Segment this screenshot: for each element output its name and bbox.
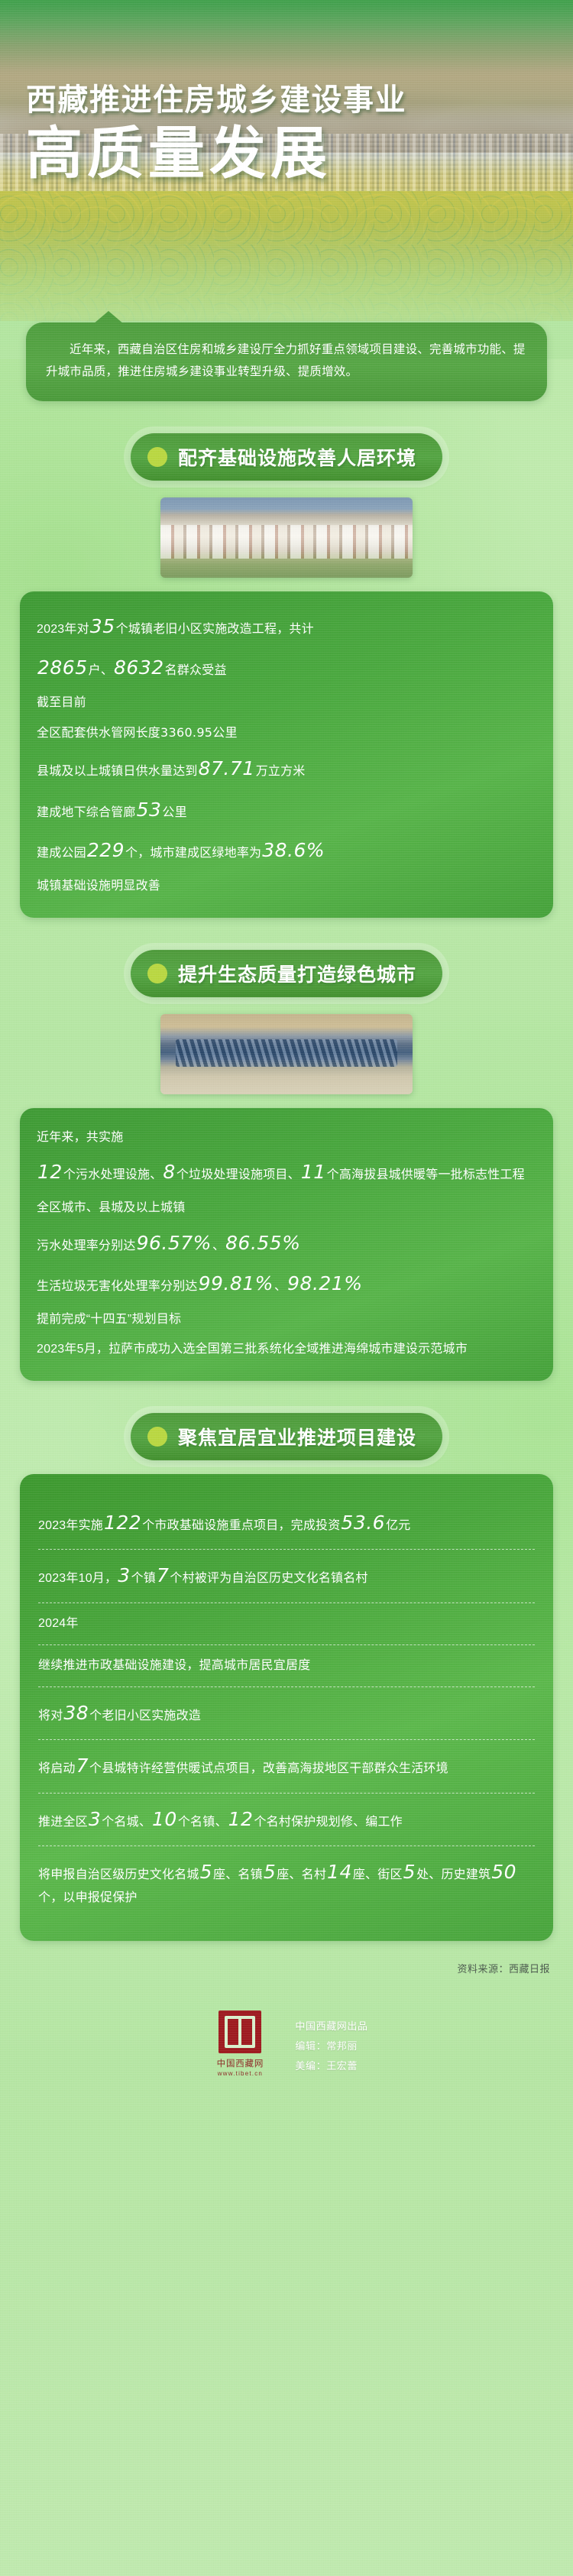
stat-number: 35 xyxy=(89,615,116,637)
stat-text: 个高海拔县城供暖等一批标志性工程 xyxy=(327,1168,525,1181)
section-1-body-card: 2023年对35个城镇老旧小区实施改造工程，共计2865户、8632名群众受益截… xyxy=(20,591,553,917)
stat-text: 2023年5月，拉萨市成功入选全国第三批系统化全域推进海绵城市建设示范城市 xyxy=(37,1343,468,1356)
stat-text: 公里 xyxy=(212,727,237,740)
intro-paragraph: 近年来，西藏自治区住房和城乡建设厅全力抓好重点领域项目建设、完善城市功能、提升城… xyxy=(46,339,527,383)
stat-number: 5 xyxy=(263,1861,277,1883)
section-2-photo-treatment-plant xyxy=(160,1014,413,1094)
stat-text: 2023年10月， xyxy=(38,1572,117,1585)
section-3-header-wrap: 聚焦宜居宜业推进项目建设 xyxy=(0,1413,573,1460)
stat-text: 个名城、 xyxy=(102,1816,151,1829)
stat-number: 86.55% xyxy=(225,1232,301,1254)
stat-text: 生活垃圾无害化处理率分别达 xyxy=(37,1280,198,1293)
stat-text: 座、街区 xyxy=(353,1868,403,1881)
stat-number: 87.71 xyxy=(198,757,256,779)
stat-number: 12 xyxy=(37,1161,63,1183)
stat-text: 个城镇老旧小区实施改造工程，共计 xyxy=(116,623,314,636)
stat-text: 个垃圾处理设施项目、 xyxy=(176,1168,300,1181)
brand-name-label: 中国西藏网 xyxy=(205,2059,275,2070)
stat-line: 建成地下综合管廊53公里 xyxy=(37,795,536,826)
bullet-dot-icon xyxy=(147,447,167,467)
tibet-seal-icon xyxy=(219,2011,261,2053)
list-item: 将申报自治区级历史文化名城5座、名镇5座、名村14座、街区5处、历史建筑50个，… xyxy=(38,1845,535,1918)
stat-text: 亿元 xyxy=(386,1519,410,1532)
section-infrastructure: 配齐基础设施改善人居环境 2023年对35个城镇老旧小区实施改造工程，共计286… xyxy=(0,433,573,917)
stat-text: 个市政基础设施重点项目，完成投资 xyxy=(142,1519,340,1532)
stat-number: 14 xyxy=(326,1861,353,1883)
stat-number: 8632 xyxy=(113,656,165,679)
section-2-header-pill[interactable]: 提升生态质量打造绿色城市 xyxy=(131,950,442,997)
brand-logo: 中国西藏网 www.tibet.cn xyxy=(205,2011,275,2077)
stat-text: 万立方米 xyxy=(256,765,306,778)
stat-text: 城镇基础设施明显改善 xyxy=(37,880,160,893)
stat-text: 近年来，共实施 xyxy=(37,1131,123,1144)
section-1-header-wrap: 配齐基础设施改善人居环境 xyxy=(0,433,573,481)
hero-banner: 西藏推进住房城乡建设事业 高质量发展 xyxy=(0,0,573,359)
section-3-header-pill[interactable]: 聚焦宜居宜业推进项目建设 xyxy=(131,1413,442,1460)
stat-text: 座、名村 xyxy=(277,1868,326,1881)
stat-number: 53 xyxy=(136,799,163,821)
bullet-dot-icon xyxy=(147,1427,167,1447)
section-2-stat-lines: 近年来，共实施12个污水处理设施、8个垃圾处理设施项目、11个高海拔县城供暖等一… xyxy=(37,1128,536,1359)
footer-credits-block: 中国西藏网 www.tibet.cn 中国西藏网出品 编辑：常邦丽 美编：王宏蕾 xyxy=(0,2011,573,2077)
stat-text: 个名镇、 xyxy=(178,1816,228,1829)
stat-number: 5 xyxy=(403,1861,416,1883)
section-3-items: 2023年实施122个市政基础设施重点项目，完成投资53.6亿元2023年10月… xyxy=(38,1497,535,1919)
stat-text: 2024年 xyxy=(38,1617,79,1630)
page-title-line2: 高质量发展 xyxy=(26,124,547,183)
list-item: 2023年10月，3个镇7个村被评为自治区历史文化名镇名村 xyxy=(38,1549,535,1602)
intro-wrapper: 近年来，西藏自治区住房和城乡建设厅全力抓好重点领域项目建设、完善城市功能、提升城… xyxy=(26,322,547,401)
stat-line: 污水处理率分别达96.57%、86.55% xyxy=(37,1228,536,1259)
stat-line: 2023年对35个城镇老旧小区实施改造工程，共计 xyxy=(37,611,536,643)
stat-text: 个，城市建成区绿地率为 xyxy=(125,847,261,860)
list-item: 将启动7个县城特许经营供暖试点项目，改善高海拔地区干部群众生活环境 xyxy=(38,1739,535,1793)
stat-number: 12 xyxy=(228,1808,254,1830)
list-item: 推进全区3个名城、10个名镇、12个名村保护规划修、编工作 xyxy=(38,1793,535,1846)
stat-text: 座、名镇 xyxy=(213,1868,263,1881)
stat-text: 建成地下综合管廊 xyxy=(37,806,136,819)
stat-text: 将对 xyxy=(38,1709,63,1722)
source-attribution: 资料来源：西藏日报 xyxy=(23,1961,550,1975)
section-1-header-pill[interactable]: 配齐基础设施改善人居环境 xyxy=(131,433,442,481)
stat-text: 建成公园 xyxy=(37,847,86,860)
stat-text: 处、历史建筑 xyxy=(416,1868,490,1881)
list-item: 2023年实施122个市政基础设施重点项目，完成投资53.6亿元 xyxy=(38,1497,535,1550)
stat-text: 户、 xyxy=(89,664,113,677)
bullet-dot-icon xyxy=(147,964,167,983)
section-1-title: 配齐基础设施改善人居环境 xyxy=(178,443,416,471)
stat-text: 个名村保护规划修、编工作 xyxy=(254,1816,402,1829)
stat-line: 2023年5月，拉萨市成功入选全国第三批系统化全域推进海绵城市建设示范城市 xyxy=(37,1340,536,1359)
stat-text: 名群众受益 xyxy=(165,664,227,677)
stat-text: 个县城特许经营供暖试点项目，改善高海拔地区干部群众生活环境 xyxy=(89,1762,448,1775)
stat-number: 7 xyxy=(156,1564,170,1586)
credits-text: 中国西藏网出品 编辑：常邦丽 美编：王宏蕾 xyxy=(295,2011,367,2076)
stat-number: 3 xyxy=(117,1564,131,1586)
stat-line: 生活垃圾无害化处理率分别达99.81%、98.21% xyxy=(37,1269,536,1300)
stat-number: 38.6% xyxy=(261,839,325,861)
brand-url-label: www.tibet.cn xyxy=(205,2070,275,2077)
stat-number: 3 xyxy=(88,1808,102,1830)
credit-producer: 中国西藏网出品 xyxy=(295,2017,367,2036)
section-projects: 聚焦宜居宜业推进项目建设 2023年实施122个市政基础设施重点项目，完成投资5… xyxy=(0,1413,573,1942)
stat-line: 全区城市、县城及以上城镇 xyxy=(37,1198,536,1218)
stat-text: 公里 xyxy=(162,806,186,819)
stat-number: 5 xyxy=(199,1861,213,1883)
stat-text: 、 xyxy=(274,1280,286,1293)
stat-text: 、 xyxy=(212,1239,225,1252)
list-item: 继续推进市政基础设施建设，提高城市居民宜居度 xyxy=(38,1644,535,1687)
stat-number: 99.81% xyxy=(198,1272,274,1294)
stat-line: 提前完成“十四五”规划目标 xyxy=(37,1310,536,1330)
list-item: 将对38个老旧小区实施改造 xyxy=(38,1687,535,1740)
stat-line: 建成公园229个，城市建成区绿地率为38.6% xyxy=(37,835,536,867)
stat-number: 122 xyxy=(103,1512,142,1534)
stat-text: 个，以申报促保护 xyxy=(38,1891,138,1904)
stat-number: 2865 xyxy=(37,656,89,679)
stat-text: 将申报自治区级历史文化名城 xyxy=(38,1868,199,1881)
stat-number: 3360.95 xyxy=(160,725,212,740)
stat-line: 城镇基础设施明显改善 xyxy=(37,876,536,896)
section-1-stat-lines: 2023年对35个城镇老旧小区实施改造工程，共计2865户、8632名群众受益截… xyxy=(37,611,536,896)
section-2-body-card: 近年来，共实施12个污水处理设施、8个垃圾处理设施项目、11个高海拔县城供暖等一… xyxy=(20,1108,553,1381)
hero-title-block: 西藏推进住房城乡建设事业 高质量发展 xyxy=(0,83,573,183)
infographic-page: 西藏推进住房城乡建设事业 高质量发展 近年来，西藏自治区住房和城乡建设厅全力抓好… xyxy=(0,0,573,2576)
stat-text: 将启动 xyxy=(38,1762,76,1775)
stat-number: 11 xyxy=(300,1161,327,1183)
stat-number: 10 xyxy=(151,1808,178,1830)
stat-text: 个污水处理设施、 xyxy=(63,1168,163,1181)
stat-text: 全区城市、县城及以上城镇 xyxy=(37,1201,185,1214)
stat-line: 2865户、8632名群众受益 xyxy=(37,653,536,684)
section-3-title: 聚焦宜居宜业推进项目建设 xyxy=(178,1423,416,1450)
page-title-line1: 西藏推进住房城乡建设事业 xyxy=(26,83,547,118)
stat-text: 2023年对 xyxy=(37,623,89,636)
credit-editor: 编辑：常邦丽 xyxy=(295,2036,367,2056)
stat-number: 96.57% xyxy=(136,1232,212,1254)
stat-line: 全区配套供水管网长度3360.95公里 xyxy=(37,723,536,744)
section-ecology: 提升生态质量打造绿色城市 近年来，共实施12个污水处理设施、8个垃圾处理设施项目… xyxy=(0,950,573,1381)
stat-text: 推进全区 xyxy=(38,1816,88,1829)
section-2-title: 提升生态质量打造绿色城市 xyxy=(178,960,416,987)
stat-text: 个村被评为自治区历史文化名镇名村 xyxy=(170,1572,367,1585)
stat-line: 截至目前 xyxy=(37,693,536,713)
stat-line: 12个污水处理设施、8个垃圾处理设施项目、11个高海拔县城供暖等一批标志性工程 xyxy=(37,1157,536,1188)
stat-line: 近年来，共实施 xyxy=(37,1128,536,1148)
stat-text: 个老旧小区实施改造 xyxy=(89,1709,201,1722)
stat-text: 个镇 xyxy=(131,1572,156,1585)
stat-number: 98.21% xyxy=(286,1272,363,1294)
stat-text: 继续推进市政基础设施建设，提高城市居民宜居度 xyxy=(38,1659,310,1672)
section-1-photo-village xyxy=(160,497,413,578)
stat-number: 38 xyxy=(63,1702,89,1724)
stat-number: 7 xyxy=(76,1755,89,1777)
stat-line: 县城及以上城镇日供水量达到87.71万立方米 xyxy=(37,753,536,785)
stat-number: 53.6 xyxy=(340,1512,386,1534)
stat-text: 全区配套供水管网长度 xyxy=(37,727,160,740)
stat-number: 50 xyxy=(490,1861,517,1883)
intro-callout: 近年来，西藏自治区住房和城乡建设厅全力抓好重点领域项目建设、完善城市功能、提升城… xyxy=(26,322,547,401)
section-2-header-wrap: 提升生态质量打造绿色城市 xyxy=(0,950,573,997)
stat-text: 污水处理率分别达 xyxy=(37,1239,136,1252)
list-item: 2024年 xyxy=(38,1602,535,1644)
stat-text: 2023年实施 xyxy=(38,1519,103,1532)
stat-text: 截至目前 xyxy=(37,696,86,709)
credit-designer: 美编：王宏蕾 xyxy=(295,2056,367,2076)
stat-text: 县城及以上城镇日供水量达到 xyxy=(37,765,198,778)
stat-number: 229 xyxy=(86,839,125,861)
stat-text: 提前完成“十四五”规划目标 xyxy=(37,1313,181,1326)
section-3-list-card: 2023年实施122个市政基础设施重点项目，完成投资53.6亿元2023年10月… xyxy=(20,1474,553,1942)
stat-number: 8 xyxy=(162,1161,176,1183)
